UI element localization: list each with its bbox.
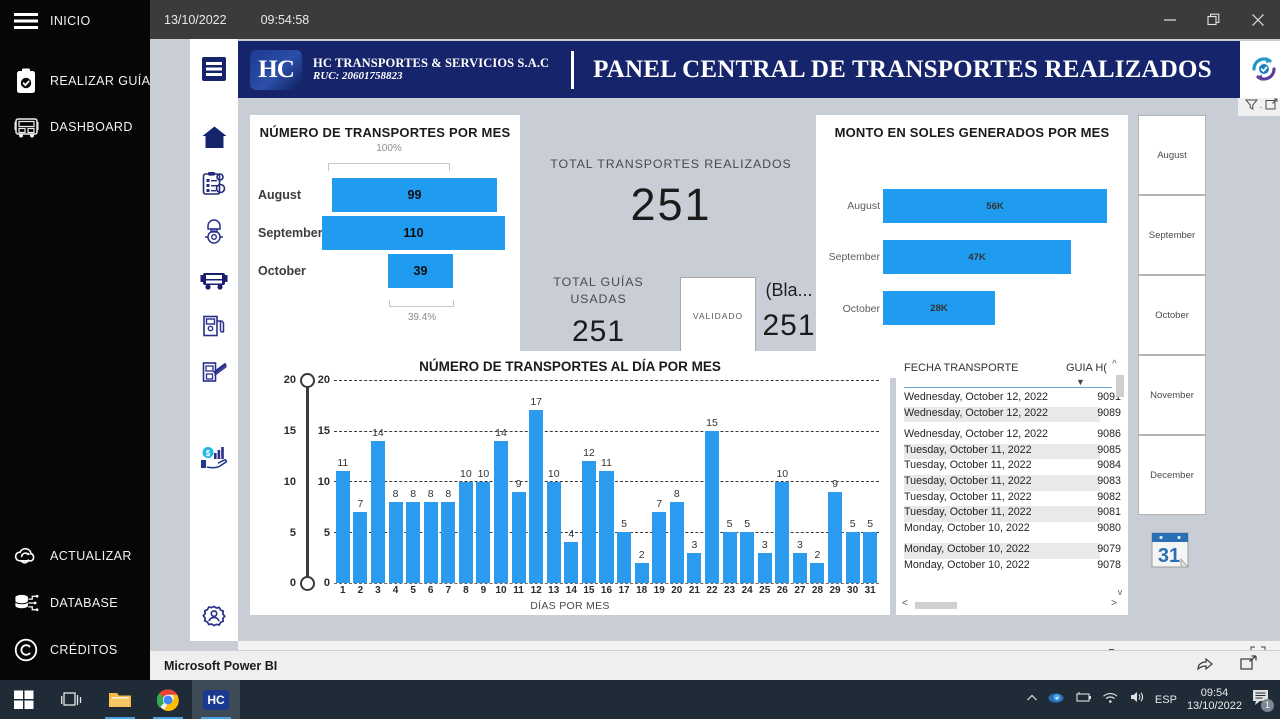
x-tick-label: 24 <box>738 585 756 596</box>
funnel-label: September <box>258 226 330 240</box>
x-tick-label: 4 <box>387 585 405 596</box>
user-gear-icon[interactable] <box>190 599 238 639</box>
bar-value-label: 5 <box>736 518 758 530</box>
maximize-restore-button[interactable] <box>1192 0 1236 39</box>
chart-title: NÚMERO DE TRANSPORTES POR MES <box>250 125 520 140</box>
calendar-icon[interactable]: 31 <box>1151 531 1192 571</box>
table-row[interactable]: Monday, October 10, 20229080 <box>904 522 1100 538</box>
kpi-total-transportes-value: 251 <box>528 179 814 231</box>
slider-tick: 15 <box>278 425 296 437</box>
hamburger-icon <box>13 8 39 34</box>
sidebar-item-label: CRÉDITOS <box>50 643 118 657</box>
x-tick-label: 11 <box>510 585 528 596</box>
funnel-label: August <box>258 188 330 202</box>
cell-fecha-transporte: Tuesday, October 11, 2022 <box>904 475 1032 487</box>
bar-day-14[interactable] <box>564 542 578 583</box>
bar-day-10[interactable] <box>494 441 508 583</box>
bar-day-27[interactable] <box>793 553 807 583</box>
bar-value-label: 2 <box>631 549 653 561</box>
bar-day-19[interactable] <box>652 512 666 583</box>
x-tick-label: 17 <box>615 585 633 596</box>
database-icon <box>13 590 39 616</box>
filter-icon[interactable] <box>1245 98 1258 116</box>
window-title-bar: 13/10/2022 09:54:58 <box>150 0 1280 39</box>
scroll-left-caret-icon[interactable]: < <box>902 598 908 609</box>
validado-card[interactable]: VALIDADO <box>680 277 756 355</box>
bar-day-11[interactable] <box>512 492 526 583</box>
cell-fecha-transporte: Wednesday, October 12, 2022 <box>904 407 1048 419</box>
card-transportes-por-mes: NÚMERO DE TRANSPORTES POR MES 100% Augus… <box>250 115 520 378</box>
bar-day-29[interactable] <box>828 492 842 583</box>
taskbar-date: 13/10/2022 <box>1187 700 1242 713</box>
column-sort-icon[interactable]: ▼ <box>1076 377 1085 387</box>
bar-value-label: 2 <box>806 549 828 561</box>
x-tick-label: 1 <box>334 585 352 596</box>
bar-day-22[interactable] <box>705 431 719 583</box>
status-app-name: Microsoft Power BI <box>164 659 277 673</box>
x-tick-label: 2 <box>352 585 370 596</box>
bar-day-30[interactable] <box>846 532 860 583</box>
cell-fecha-transporte: Tuesday, October 11, 2022 <box>904 491 1032 503</box>
file-explorer-icon[interactable] <box>96 680 144 719</box>
cell-fecha-transporte: Tuesday, October 11, 2022 <box>904 444 1032 456</box>
money-hand-icon[interactable]: $ <box>190 438 238 478</box>
y-tick: 15 <box>314 425 330 437</box>
hc-app-label: HC <box>203 690 228 710</box>
bar-value-label: 10 <box>771 468 793 480</box>
battery-icon[interactable] <box>1074 691 1092 709</box>
bar-day-31[interactable] <box>863 532 877 583</box>
x-tick-label: 26 <box>774 585 792 596</box>
titlebar-time: 09:54:58 <box>261 13 310 27</box>
bar-day-21[interactable] <box>687 553 701 583</box>
bar-day-3[interactable] <box>371 441 385 583</box>
clipboard-gear-icon[interactable] <box>190 164 238 204</box>
table-row[interactable]: Monday, October 10, 20229079 <box>904 543 1100 559</box>
sidebar-item-dashboard[interactable]: DASHBOARD <box>0 106 150 148</box>
powerbi-app-shell: $ HC <box>150 39 1280 680</box>
copyright-icon <box>13 637 39 663</box>
funnel-bottom-reference: 39.4% <box>370 312 474 323</box>
bar-value-label: 11 <box>595 457 617 469</box>
sort-caret-icon: ^ <box>1112 359 1117 370</box>
funnel-top-tick <box>328 163 450 164</box>
cell-fecha-transporte: Monday, October 10, 2022 <box>904 522 1030 534</box>
left-sidebar: INICIO REALIZAR GUÍA <box>0 0 150 680</box>
bar-day-24[interactable] <box>740 532 754 583</box>
kpi-blank: (Bla... 251 <box>758 274 820 343</box>
bar-category-label: August <box>824 200 880 212</box>
bar-day-5[interactable] <box>406 502 420 583</box>
svg-text:31: 31 <box>1158 545 1180 567</box>
funnel-label: October <box>258 264 330 278</box>
sidebar-item-label: DASHBOARD <box>50 120 133 134</box>
scrollbar-thumb[interactable] <box>1116 375 1124 397</box>
sidebar-item-creditos[interactable]: CRÉDITOS <box>0 629 150 671</box>
x-tick-label: 23 <box>721 585 739 596</box>
sidebar-item-realizar-guia[interactable]: REALIZAR GUÍA <box>0 60 150 102</box>
scrollbar-thumb[interactable] <box>915 602 957 609</box>
bar-value-label: 14 <box>367 427 389 439</box>
cloud-refresh-icon <box>13 543 39 569</box>
language-indicator[interactable]: ESP <box>1155 694 1177 706</box>
table-header-rule <box>904 387 1112 388</box>
x-tick-label: 22 <box>703 585 721 596</box>
slicer-item-december[interactable]: December <box>1138 435 1206 515</box>
table-column-header-guia[interactable]: GUIA H( <box>1066 362 1107 374</box>
svg-text:$: $ <box>206 449 211 458</box>
slider-tick: 5 <box>278 527 296 539</box>
bar-day-28[interactable] <box>810 563 824 583</box>
clipboard-check-icon <box>13 68 39 94</box>
volume-icon[interactable] <box>1129 690 1145 709</box>
table-row[interactable]: Wednesday, October 12, 20229086 <box>904 428 1100 444</box>
cell-fecha-transporte: Monday, October 10, 2022 <box>904 559 1030 571</box>
sidebar-item-database[interactable]: DATABASE <box>0 582 150 624</box>
kpi-blank-label: (Bla... <box>758 280 820 301</box>
chrome-icon[interactable] <box>144 680 192 719</box>
sidebar-item-actualizar[interactable]: ACTUALIZAR <box>0 535 150 577</box>
taskbar-time: 09:54 <box>1187 687 1242 700</box>
bar-value-label: 10 <box>543 468 565 480</box>
x-tick-label: 28 <box>809 585 827 596</box>
visual-header-icons: · <box>1238 98 1280 116</box>
screen: INICIO REALIZAR GUÍA <box>0 0 1280 719</box>
bar-value-label: 17 <box>525 396 547 408</box>
bar-day-4[interactable] <box>389 502 403 583</box>
chart-title: NÚMERO DE TRANSPORTES AL DÍA POR MES <box>250 359 890 374</box>
table-row[interactable]: Tuesday, October 11, 20229083 <box>904 475 1100 491</box>
validado-label: VALIDADO <box>693 311 743 321</box>
cell-fecha-transporte: Wednesday, October 12, 2022 <box>904 428 1048 440</box>
company-name: HC TRANSPORTES & SERVICIOS S.A.C <box>313 56 549 70</box>
x-tick-label: 8 <box>457 585 475 596</box>
table-row[interactable]: Monday, October 10, 20229078 <box>904 559 1100 575</box>
kpi-total-guias-label: TOTAL GUÍAS USADAS <box>536 274 661 308</box>
slicer-item-september[interactable]: September <box>1138 195 1206 275</box>
monto-bar[interactable]: 56K <box>883 189 1107 223</box>
x-tick-label: 13 <box>545 585 563 596</box>
bars-plot-area: 1171488881010149171041211527831555310329… <box>334 380 879 583</box>
kpi-blank-value: 251 <box>758 309 820 343</box>
slicer-item-october[interactable]: October <box>1138 275 1206 355</box>
titlebar-date: 13/10/2022 <box>164 13 227 27</box>
x-tick-label: 3 <box>369 585 387 596</box>
y-tick: 10 <box>314 476 330 488</box>
x-tick-label: 14 <box>563 585 581 596</box>
system-tray: ESP 09:54 13/10/2022 1 <box>1026 687 1280 713</box>
x-axis-ticks: 1234567891011121314151617181920212223242… <box>334 585 879 601</box>
y-tick: 5 <box>314 527 330 539</box>
show-hidden-icons-chevron[interactable] <box>1026 691 1038 709</box>
funnel-bar-value: 99 <box>332 178 497 212</box>
windows-start-icon[interactable] <box>0 680 48 719</box>
home-icon[interactable] <box>190 117 238 157</box>
hc-logo: HC <box>250 50 302 90</box>
sidebar-item-inicio[interactable]: INICIO <box>0 0 150 42</box>
table-row[interactable]: Wednesday, October 12, 20229089 <box>904 407 1100 423</box>
bar-value-label: 15 <box>701 417 723 429</box>
bar-day-6[interactable] <box>424 502 438 583</box>
bar-day-1[interactable] <box>336 471 350 583</box>
bar-day-8[interactable] <box>459 482 473 584</box>
focus-mode-icon[interactable] <box>1265 98 1278 116</box>
report-icon-rail: $ <box>190 39 238 641</box>
y-tick: 0 <box>314 577 330 589</box>
company-block: HC TRANSPORTES & SERVICIOS S.A.C RUC: 20… <box>313 56 549 83</box>
x-tick-label: 25 <box>756 585 774 596</box>
bar-day-15[interactable] <box>582 461 596 583</box>
kpi-cluster: TOTAL TRANSPORTES REALIZADOS 251 TOTAL G… <box>528 115 814 378</box>
bar-value-label: 11 <box>332 457 354 469</box>
cell-fecha-transporte: Tuesday, October 11, 2022 <box>904 459 1032 471</box>
x-tick-label: 5 <box>404 585 422 596</box>
onedrive-sync-icon[interactable] <box>1048 690 1064 709</box>
scroll-right-caret-icon[interactable]: > <box>1111 598 1117 609</box>
bar-value-label: 9 <box>508 478 530 490</box>
notifications-icon[interactable]: 1 <box>1252 688 1272 711</box>
refresh-sync-icon <box>1248 53 1280 90</box>
bar-day-20[interactable] <box>670 502 684 583</box>
truck-icon[interactable] <box>190 260 238 300</box>
funnel-row[interactable]: September 110 <box>258 216 514 250</box>
slider-tick: 10 <box>278 476 296 488</box>
cell-fecha-transporte: Wednesday, October 12, 2022 <box>904 391 1048 403</box>
month-slicer: August September October November Decemb… <box>1138 115 1218 615</box>
bar-day-16[interactable] <box>599 471 613 583</box>
kpi-total-guias: TOTAL GUÍAS USADAS 251 <box>536 274 661 349</box>
x-tick-label: 27 <box>791 585 809 596</box>
toll-gate-icon[interactable] <box>190 352 238 392</box>
x-tick-label: 29 <box>826 585 844 596</box>
bar-value-label: 5 <box>613 518 635 530</box>
x-tick-label: 15 <box>580 585 598 596</box>
refresh-button[interactable] <box>1240 41 1280 98</box>
bar-day-25[interactable] <box>758 553 772 583</box>
header-divider <box>571 51 574 89</box>
funnel-bar-value: 110 <box>322 216 505 250</box>
bar-value-label: 8 <box>437 488 459 500</box>
sidebar-item-label: DATABASE <box>50 596 118 610</box>
bar-day-7[interactable] <box>441 502 455 583</box>
x-tick-label: 7 <box>439 585 457 596</box>
bar-value-label: 4 <box>560 528 582 540</box>
bar-day-9[interactable] <box>476 482 490 584</box>
slicer-item-august[interactable]: August <box>1138 115 1206 195</box>
table-row[interactable]: Wednesday, October 12, 20229091 <box>904 391 1100 407</box>
hamburger-icon[interactable] <box>190 49 238 89</box>
slider-tick: 20 <box>278 374 296 386</box>
funnel-top-reference: 100% <box>324 143 454 154</box>
slicer-item-november[interactable]: November <box>1138 355 1206 435</box>
truck-front-icon <box>13 114 39 140</box>
fuel-pump-icon[interactable] <box>190 306 238 346</box>
report-header: HC HC TRANSPORTES & SERVICIOS S.A.C RUC:… <box>238 41 1240 98</box>
bar-value-label: 47K <box>968 252 985 263</box>
x-tick-label: 19 <box>650 585 668 596</box>
slider-handle-top[interactable] <box>300 373 315 388</box>
bar-value-label: 7 <box>349 498 371 510</box>
sidebar-item-label: ACTUALIZAR <box>50 549 132 563</box>
status-bar: Microsoft Power BI <box>150 650 1280 680</box>
share-icon[interactable] <box>1196 655 1214 676</box>
scroll-down-caret-icon[interactable]: v <box>1116 587 1124 597</box>
card-transportes-al-dia: NÚMERO DE TRANSPORTES AL DÍA POR MES 20 … <box>250 351 890 615</box>
bar-value-label: 28K <box>930 303 947 314</box>
chart-title: MONTO EN SOLES GENERADOS POR MES <box>816 125 1128 140</box>
open-external-icon[interactable] <box>1240 655 1258 676</box>
x-tick-label: 20 <box>668 585 686 596</box>
kpi-total-transportes-label: TOTAL TRANSPORTES REALIZADOS <box>528 156 814 173</box>
bar-category-label: September <box>816 251 880 263</box>
bar-value-label: 56K <box>986 201 1003 212</box>
windows-taskbar: HC ESP 09:54 13/10/2022 <box>0 680 1280 719</box>
slider-handle-bottom[interactable] <box>300 576 315 591</box>
x-tick-label: 10 <box>492 585 510 596</box>
y-tick: 20 <box>314 374 330 386</box>
bar-day-2[interactable] <box>353 512 367 583</box>
notification-badge: 1 <box>1261 699 1274 712</box>
bar-value-label: 8 <box>666 488 688 500</box>
taskbar-clock[interactable]: 09:54 13/10/2022 <box>1187 687 1242 713</box>
x-tick-label: 31 <box>861 585 879 596</box>
minimize-button[interactable] <box>1148 0 1192 39</box>
table-row[interactable]: Tuesday, October 11, 20229081 <box>904 506 1100 522</box>
monto-bar[interactable]: 28K <box>883 291 995 325</box>
wifi-icon[interactable] <box>1102 691 1119 709</box>
bar-day-26[interactable] <box>775 482 789 584</box>
x-tick-label: 9 <box>475 585 493 596</box>
cell-fecha-transporte: Monday, October 10, 2022 <box>904 543 1030 555</box>
bar-category-label: October <box>824 303 880 315</box>
x-tick-label: 21 <box>686 585 704 596</box>
bar-value-label: 14 <box>490 427 512 439</box>
page-title: PANEL CENTRAL DE TRANSPORTES REALIZADOS <box>593 56 1212 84</box>
table-vertical-scrollbar[interactable]: v <box>1116 375 1124 597</box>
bar-day-23[interactable] <box>723 532 737 583</box>
x-tick-label: 12 <box>527 585 545 596</box>
bar-value-label: 5 <box>859 518 881 530</box>
sidebar-item-label: INICIO <box>50 14 91 28</box>
table-row[interactable]: Tuesday, October 11, 20229085 <box>904 444 1100 460</box>
table-column-header-fecha[interactable]: FECHA TRANSPORTE <box>904 362 1019 374</box>
x-tick-label: 16 <box>598 585 616 596</box>
bar-value-label: 10 <box>472 468 494 480</box>
card-monto-en-soles: MONTO EN SOLES GENERADOS POR MES August … <box>816 115 1128 378</box>
slider-tick: 0 <box>278 577 296 589</box>
bar-day-13[interactable] <box>547 482 561 584</box>
x-tick-label: 18 <box>633 585 651 596</box>
table-row[interactable]: Tuesday, October 11, 20229082 <box>904 491 1100 507</box>
sidebar-item-label: REALIZAR GUÍA <box>50 74 150 88</box>
bar-day-18[interactable] <box>635 563 649 583</box>
bar-day-17[interactable] <box>617 532 631 583</box>
x-tick-label: 30 <box>844 585 862 596</box>
funnel-bar-value: 39 <box>388 254 453 288</box>
bar-value-label: 3 <box>754 539 776 551</box>
kpi-total-guias-value: 251 <box>536 315 661 349</box>
funnel-bottom-tick <box>389 306 454 307</box>
table-row[interactable]: Tuesday, October 11, 20229084 <box>904 459 1100 475</box>
funnel-row[interactable]: August 99 <box>258 178 514 212</box>
hc-app-icon[interactable]: HC <box>192 680 240 719</box>
funnel-row[interactable]: October 39 <box>258 254 514 288</box>
monto-bar[interactable]: 47K <box>883 240 1071 274</box>
task-view-icon[interactable] <box>48 680 96 719</box>
table-visual: FECHA TRANSPORTE GUIA H( ^ ▼ Wednesday, … <box>896 351 1128 615</box>
bar-value-label: 3 <box>683 539 705 551</box>
x-tick-label: 6 <box>422 585 440 596</box>
x-axis-title: DÍAS POR MES <box>250 600 890 612</box>
cell-fecha-transporte: Tuesday, October 11, 2022 <box>904 506 1032 518</box>
close-button[interactable] <box>1236 0 1280 39</box>
company-ruc: RUC: 20601758823 <box>313 70 549 83</box>
separator-dot: · <box>1260 102 1263 112</box>
bar-day-12[interactable] <box>529 410 543 583</box>
report-canvas: HC HC TRANSPORTES & SERVICIOS S.A.C RUC:… <box>238 39 1280 641</box>
table-horizontal-scrollbar[interactable]: < > <box>902 601 1117 611</box>
bar-value-label: 9 <box>824 478 846 490</box>
driver-icon[interactable] <box>190 212 238 252</box>
